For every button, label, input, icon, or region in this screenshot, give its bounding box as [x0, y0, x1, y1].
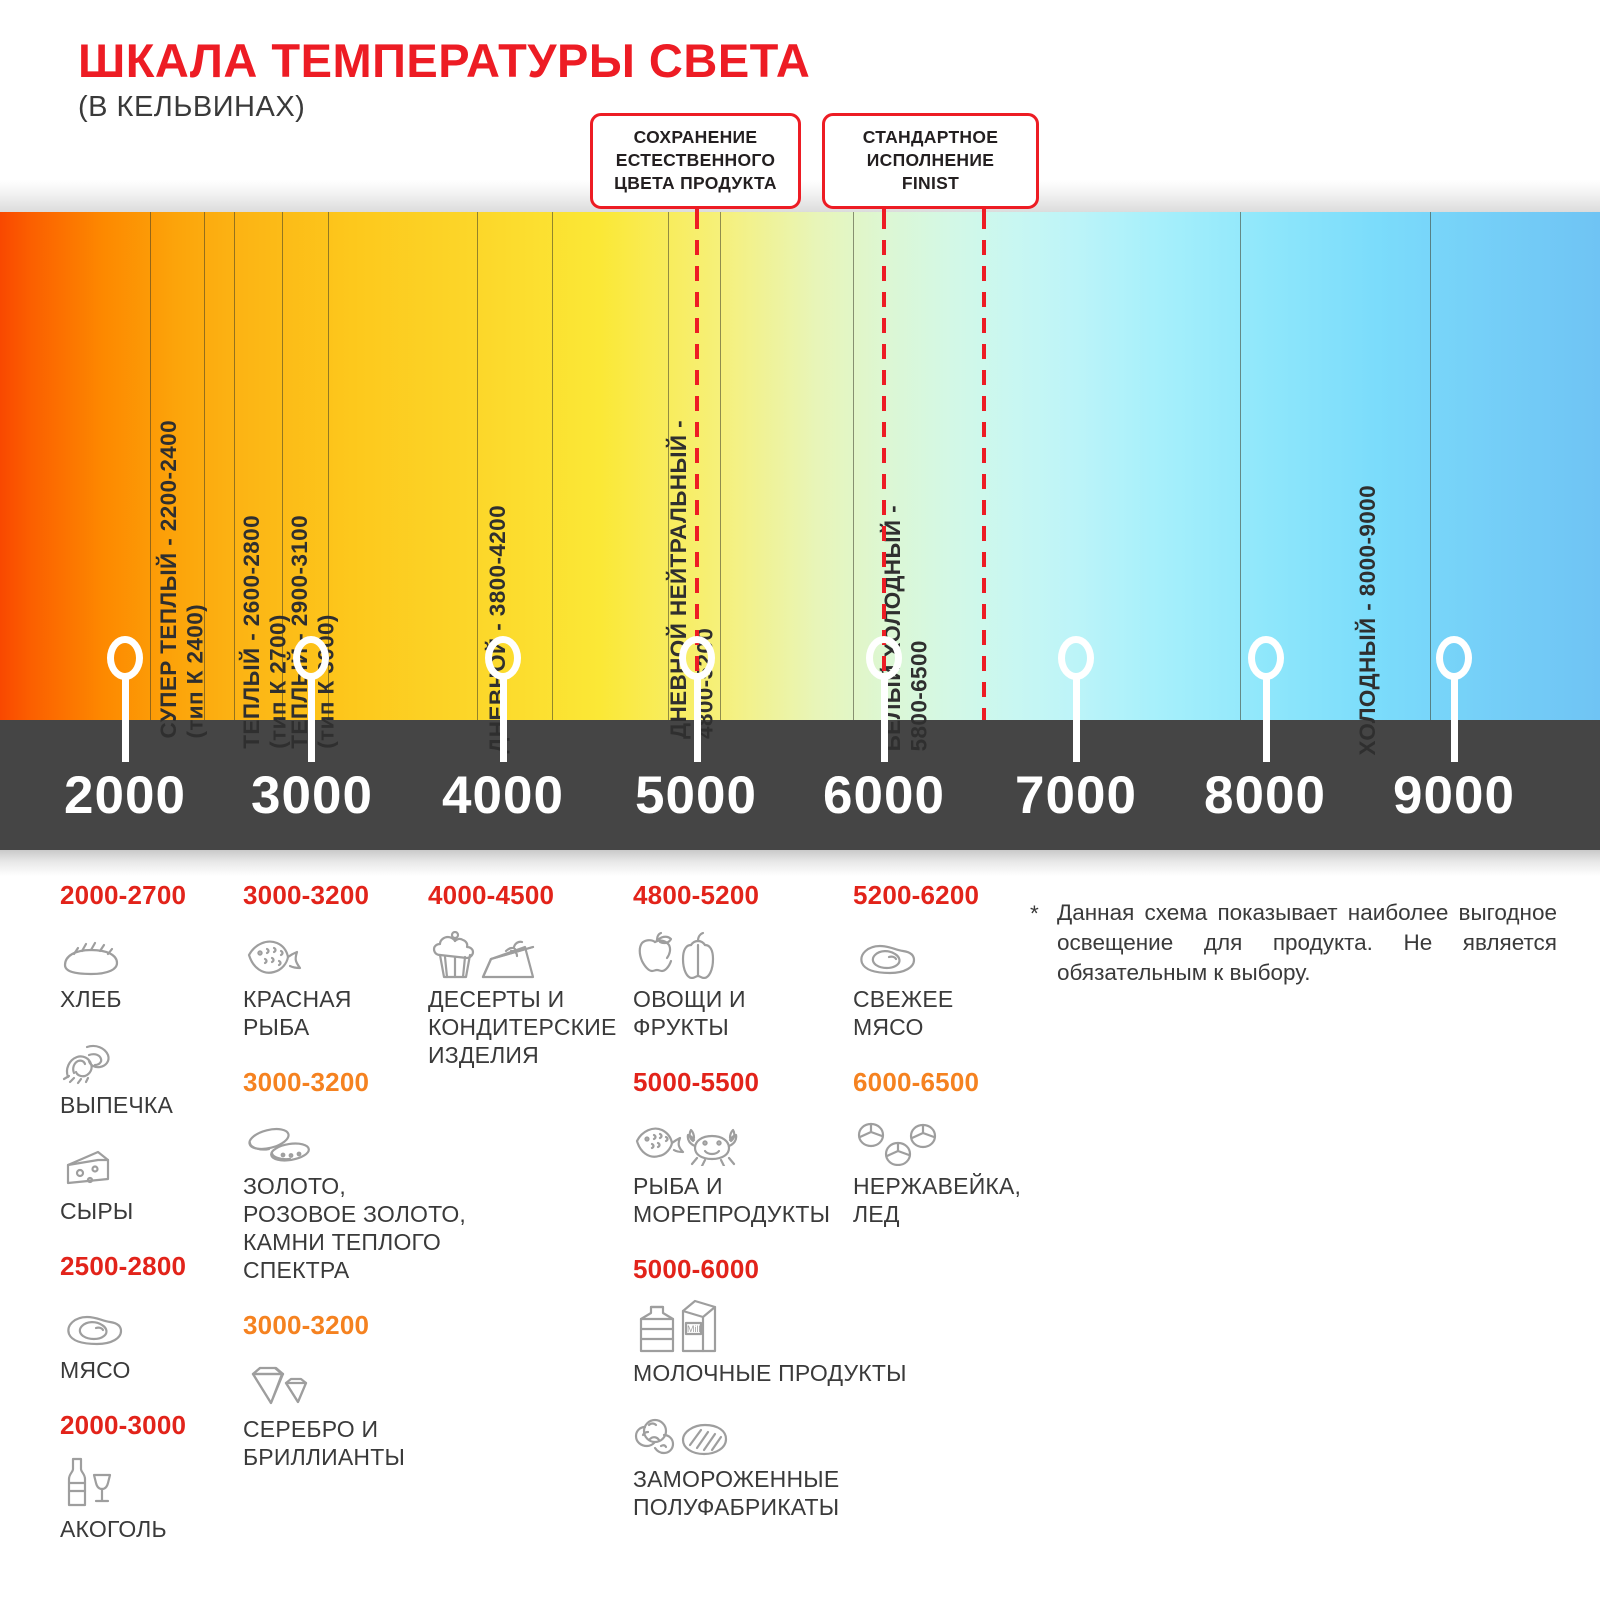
- legend-group: 3000-3200 СЕРЕБРО И БРИЛЛИАНТЫ: [243, 1310, 466, 1471]
- band-label-warm-2700: ТЕПЛЫЙ - 2600-2800 (тип К 2700): [239, 515, 292, 749]
- scale-tick-4000: 4000: [413, 765, 593, 826]
- legend-item-label: ДЕСЕРТЫ И КОНДИТЕРСКИЕ ИЗДЕЛИЯ: [428, 985, 617, 1069]
- pin-stem: [308, 676, 315, 762]
- scale-tick-2000: 2000: [35, 765, 215, 826]
- bottom-shadow-band: [0, 850, 1600, 876]
- legend-group: 2000-3000 АКОГОЛЬ: [60, 1410, 186, 1543]
- rings-icon: [243, 1110, 466, 1166]
- callout-line: СТАНДАРТНОЕ: [839, 126, 1022, 149]
- legend-range-label: 2000-2700: [60, 880, 186, 911]
- legend-range-label: 5000-6000: [633, 1254, 907, 1285]
- svg-text:Milk: Milk: [687, 1324, 703, 1334]
- pin-stem: [881, 676, 888, 762]
- band-label-line1: ДНЕВНОЙ НЕЙТРАЛЬНЫЙ -: [666, 420, 691, 739]
- band-divider: [853, 212, 854, 720]
- band-label-daylight: ДНЕВНОЙ - 3800-4200: [485, 505, 512, 754]
- legend-range-label: 4000-4500: [428, 880, 617, 911]
- dashed-marker-6550: [982, 214, 986, 720]
- pin-stem: [694, 676, 701, 762]
- legend-group: 5200-6200 СВЕЖЕЕ МЯСО: [853, 880, 1021, 1041]
- callout-line: СОХРАНЕНИЕ: [607, 126, 784, 149]
- pin-ring-icon: [1248, 636, 1284, 680]
- scale-tick-7000: 7000: [986, 765, 1166, 826]
- pin-ring-icon: [866, 636, 902, 680]
- legend-group: 6000-6500 НЕРЖАВЕЙКА, ЛЕД: [853, 1067, 1021, 1228]
- croissant-icon: [60, 1029, 186, 1085]
- bottle-glass-icon: [60, 1453, 186, 1509]
- pin-ring-icon: [1058, 636, 1094, 680]
- page-header: ШКАЛА ТЕМПЕРАТУРЫ СВЕТА (В КЕЛЬВИНАХ): [78, 36, 810, 124]
- scale-tick-3000: 3000: [222, 765, 402, 826]
- legend-group: 2500-2800 МЯСО: [60, 1251, 186, 1384]
- diamond-icon: [243, 1353, 466, 1409]
- callout-line: ЦВЕТА ПРОДУКТА: [607, 172, 784, 195]
- legend-item-label: АКОГОЛЬ: [60, 1515, 186, 1543]
- legend-column-5: 5200-6200 СВЕЖЕЕ МЯСО6000-6500 НЕРЖАВЕЙК…: [853, 880, 1021, 1254]
- band-divider: [720, 212, 721, 720]
- page-title: ШКАЛА ТЕМПЕРАТУРЫ СВЕТА: [78, 36, 810, 85]
- band-divider: [234, 212, 235, 720]
- scale-tick-5000: 5000: [606, 765, 786, 826]
- pin-ring-icon: [1436, 636, 1472, 680]
- band-label-line2: (тип К 3000): [314, 515, 341, 749]
- legend-item-label: ВЫПЕЧКА: [60, 1091, 186, 1119]
- legend-group: 2000-2700 ХЛЕБ ВЫПЕЧКА СЫРЫ: [60, 880, 186, 1225]
- scale-tick-6000: 6000: [794, 765, 974, 826]
- legend-range-label: 6000-6500: [853, 1067, 1021, 1098]
- legend-range-label: 2500-2800: [60, 1251, 186, 1282]
- band-label-line2: 5800-6500: [907, 505, 934, 751]
- temperature-scale: СУПЕР ТЕПЛЫЙ - 2200-2400 (тип К 2400) ТЕ…: [0, 180, 1600, 860]
- ice-cubes-icon: [853, 1110, 1021, 1166]
- band-label-cold: ХОЛОДНЫЙ - 8000-9000: [1355, 485, 1382, 755]
- cupcake-cake-icon: [428, 923, 617, 979]
- finist-standard-callout: СТАНДАРТНОЕИСПОЛНЕНИЕFINIST: [822, 113, 1039, 209]
- milk-carton-icon: Milk: [633, 1297, 907, 1353]
- pin-ring-icon: [293, 636, 329, 680]
- band-label-line1: СУПЕР ТЕПЛЫЙ - 2200-2400: [156, 420, 181, 739]
- legend-item-label: НЕРЖАВЕЙКА, ЛЕД: [853, 1172, 1021, 1228]
- scale-tick-8000: 8000: [1175, 765, 1355, 826]
- band-divider: [1430, 212, 1431, 720]
- bread-icon: [60, 923, 186, 979]
- steak-icon: [60, 1294, 186, 1350]
- legend-range-label: 3000-3200: [243, 1310, 466, 1341]
- legend-item-label: МОЛОЧНЫЕ ПРОДУКТЫ: [633, 1359, 907, 1387]
- steak-icon: [853, 923, 1021, 979]
- legend-group: 4000-4500 ДЕСЕРТЫ И КОНДИТЕРСКИЕ ИЗДЕЛИЯ: [428, 880, 617, 1069]
- pin-stem: [122, 676, 129, 762]
- band-label-line1: ХОЛОДНЫЙ - 8000-9000: [1355, 485, 1380, 755]
- legend-item-label: ЗОЛОТО, РОЗОВОЕ ЗОЛОТО, КАМНИ ТЕПЛОГО СП…: [243, 1172, 466, 1284]
- legend-range-label: 5200-6200: [853, 880, 1021, 911]
- pin-stem: [500, 676, 507, 762]
- band-label-line2: (тип К 2400): [183, 420, 210, 739]
- band-divider: [150, 212, 151, 720]
- legend-item-label: СЫРЫ: [60, 1197, 186, 1225]
- pin-ring-icon: [679, 636, 715, 680]
- pin-stem: [1451, 676, 1458, 762]
- band-divider: [477, 212, 478, 720]
- pin-stem: [1073, 676, 1080, 762]
- band-label-super-warm: СУПЕР ТЕПЛЫЙ - 2200-2400 (тип К 2400): [156, 420, 209, 739]
- band-divider: [552, 212, 553, 720]
- legend-column-1: 2000-2700 ХЛЕБ ВЫПЕЧКА СЫРЫ2500-2800 МЯС…: [60, 880, 186, 1569]
- cheese-icon: [60, 1135, 186, 1191]
- legend-item-label: ХЛЕБ: [60, 985, 186, 1013]
- band-divider: [1240, 212, 1241, 720]
- pin-stem: [1263, 676, 1270, 762]
- legend-item-label: МЯСО: [60, 1356, 186, 1384]
- natural-color-callout: СОХРАНЕНИЕЕСТЕСТВЕННОГОЦВЕТА ПРОДУКТА: [590, 113, 801, 209]
- footnote: * Данная схема показывает наиболее выгод…: [1057, 898, 1557, 988]
- band-label-white-cold: БЕЛЫЙ ХОЛОДНЫЙ - 5800-6500: [880, 505, 933, 751]
- legend-item-label: ЗАМОРОЖЕННЫЕ ПОЛУФАБРИКАТЫ: [633, 1465, 907, 1521]
- callout-line: FINIST: [839, 172, 1022, 195]
- callout-line: ЕСТЕСТВЕННОГО: [607, 149, 784, 172]
- legend-item-label: СВЕЖЕЕ МЯСО: [853, 985, 1021, 1041]
- legend-column-3: 4000-4500 ДЕСЕРТЫ И КОНДИТЕРСКИЕ ИЗДЕЛИЯ: [428, 880, 617, 1095]
- callout-line: ИСПОЛНЕНИЕ: [839, 149, 1022, 172]
- legend-range-label: 2000-3000: [60, 1410, 186, 1441]
- legend-group: 5000-6000 MilkМОЛОЧНЫЕ ПРОДУКТЫ ЗАМОРОЖЕ…: [633, 1254, 907, 1521]
- legend-item-label: СЕРЕБРО И БРИЛЛИАНТЫ: [243, 1415, 466, 1471]
- legend-group: 3000-3200 ЗОЛОТО, РОЗОВОЕ ЗОЛОТО, КАМНИ …: [243, 1067, 466, 1284]
- scale-tick-9000: 9000: [1364, 765, 1544, 826]
- frozen-food-icon: [633, 1403, 907, 1459]
- footnote-marker: *: [1030, 899, 1039, 929]
- band-label-line1: ТЕПЛЫЙ - 2600-2800: [239, 515, 264, 749]
- pin-ring-icon: [485, 636, 521, 680]
- pin-ring-icon: [107, 636, 143, 680]
- footnote-text: Данная схема показывает наиболее выгодно…: [1057, 900, 1557, 985]
